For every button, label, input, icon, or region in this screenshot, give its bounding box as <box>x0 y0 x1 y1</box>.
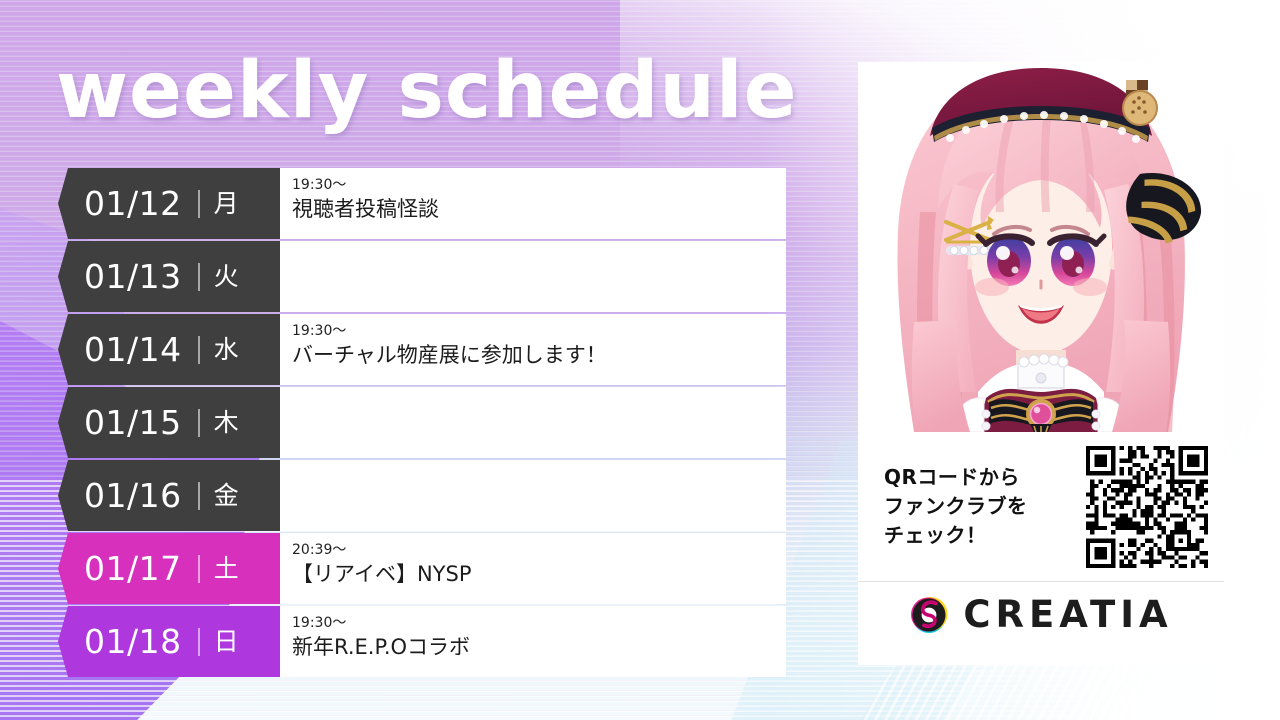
date-weekday-separator <box>198 263 200 291</box>
start-time: 19:30〜 <box>292 323 786 340</box>
schedule-cell: 19:30〜新年R.E.P.Oコラボ <box>280 606 786 677</box>
promo-panel: QRコードから ファンクラブを チェック！ <box>858 62 1224 665</box>
weekday-label: 水 <box>214 337 239 362</box>
event-title: 新年R.E.P.Oコラボ <box>292 634 786 661</box>
date-weekday-separator <box>198 628 200 656</box>
schedule-row: 01/15木 <box>58 387 786 458</box>
weekday-label: 木 <box>214 410 239 435</box>
date-tab: 01/18日 <box>58 606 280 677</box>
date-weekday-separator <box>198 190 200 218</box>
schedule-row: 01/12月19:30〜視聴者投稿怪談 <box>58 168 786 239</box>
weekday-label: 火 <box>214 264 239 289</box>
schedule-row: 01/18日19:30〜新年R.E.P.Oコラボ <box>58 606 786 677</box>
avatar <box>858 62 1224 432</box>
event-title: 【リアイベ】NYSP <box>292 561 786 588</box>
weekday-label: 土 <box>214 556 239 581</box>
schedule-row: 01/13火 <box>58 241 786 312</box>
date-label: 01/14 <box>84 333 182 366</box>
page-title: weekly schedule <box>56 52 798 130</box>
date-label: 01/16 <box>84 479 182 512</box>
start-time: 20:39〜 <box>292 542 786 559</box>
date-weekday-separator <box>198 336 200 364</box>
date-weekday-separator <box>198 409 200 437</box>
brand-logo: CREATIA <box>858 582 1224 665</box>
date-label: 01/15 <box>84 406 182 439</box>
weekday-label: 月 <box>214 191 239 216</box>
schedule-row: 01/14水19:30〜バーチャル物産展に参加します！ <box>58 314 786 385</box>
qr-code[interactable] <box>1086 446 1208 568</box>
brand-name: CREATIA <box>963 593 1172 636</box>
date-weekday-separator <box>198 482 200 510</box>
start-time <box>292 387 786 404</box>
schedule-cell: 19:30〜視聴者投稿怪談 <box>280 168 786 239</box>
schedule-table: 01/12月19:30〜視聴者投稿怪談01/13火01/14水19:30〜バーチ… <box>58 168 786 679</box>
schedule-cell: 20:39〜【リアイベ】NYSP <box>280 533 786 604</box>
date-label: 01/18 <box>84 625 182 658</box>
event-title: 視聴者投稿怪談 <box>292 196 786 223</box>
schedule-row: 01/16金 <box>58 460 786 531</box>
qr-caption-line3: チェック！ <box>884 521 1086 550</box>
qr-section: QRコードから ファンクラブを チェック！ <box>858 432 1224 582</box>
qr-caption: QRコードから ファンクラブを チェック！ <box>884 463 1086 550</box>
date-label: 01/12 <box>84 187 182 220</box>
date-weekday-separator <box>198 555 200 583</box>
start-time <box>292 241 786 258</box>
date-tab: 01/16金 <box>58 460 280 531</box>
creatia-logo-mark-icon <box>909 595 949 635</box>
qr-caption-line1: QRコードから <box>884 463 1086 492</box>
start-time: 19:30〜 <box>292 615 786 632</box>
event-title: バーチャル物産展に参加します！ <box>292 342 786 369</box>
date-label: 01/17 <box>84 552 182 585</box>
qr-caption-line2: ファンクラブを <box>884 492 1086 521</box>
date-tab: 01/12月 <box>58 168 280 239</box>
date-tab: 01/13火 <box>58 241 280 312</box>
schedule-row: 01/17土20:39〜【リアイベ】NYSP <box>58 533 786 604</box>
schedule-cell <box>280 387 786 458</box>
start-time: 19:30〜 <box>292 177 786 194</box>
schedule-cell: 19:30〜バーチャル物産展に参加します！ <box>280 314 786 385</box>
date-label: 01/13 <box>84 260 182 293</box>
schedule-cell <box>280 460 786 531</box>
start-time <box>292 460 786 477</box>
date-tab: 01/15木 <box>58 387 280 458</box>
schedule-cell <box>280 241 786 312</box>
weekday-label: 日 <box>214 629 239 654</box>
poster-canvas: weekly schedule 01/12月19:30〜視聴者投稿怪談01/13… <box>0 0 1280 720</box>
weekday-label: 金 <box>214 483 239 508</box>
date-tab: 01/14水 <box>58 314 280 385</box>
date-tab: 01/17土 <box>58 533 280 604</box>
